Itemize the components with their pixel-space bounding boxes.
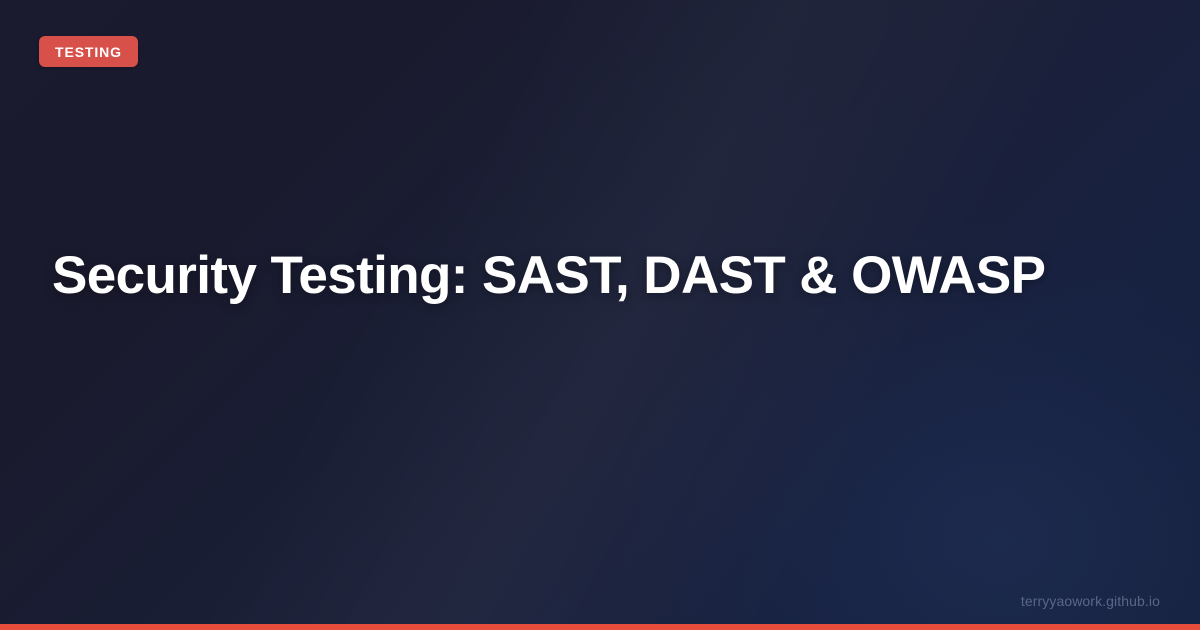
og-share-card: TESTING Security Testing: SAST, DAST & O…: [0, 0, 1200, 630]
category-badge: TESTING: [39, 36, 138, 67]
category-badge-label: TESTING: [55, 45, 122, 59]
site-domain-label: terryyaowork.github.io: [1021, 594, 1160, 608]
bottom-accent-bar: [0, 624, 1200, 630]
page-title: Security Testing: SAST, DAST & OWASP: [52, 245, 1045, 306]
background-sheen-overlay: [0, 0, 1200, 630]
